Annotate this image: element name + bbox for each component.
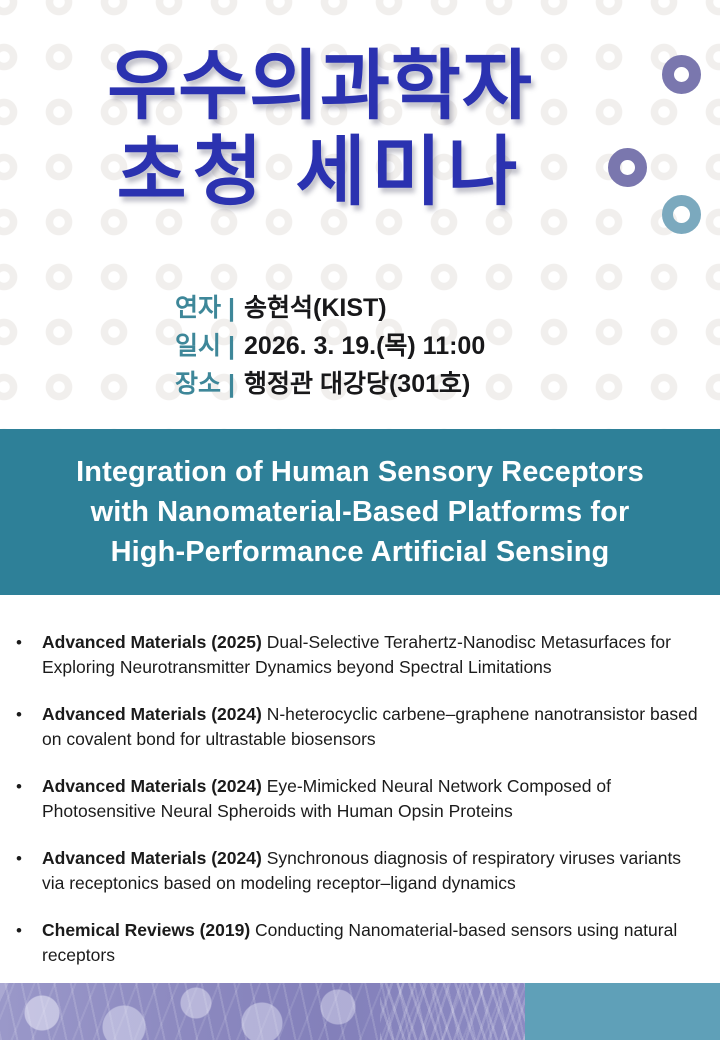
info-value-location: 행정관 대강당(301호) — [244, 364, 470, 400]
lecture-title-text: Integration of Human Sensory Receptors w… — [62, 452, 658, 572]
publication-journal: Advanced Materials (2024) — [42, 848, 262, 868]
bullet-icon: • — [16, 918, 22, 943]
info-row-speaker: 연자 | 송현석(KIST) — [175, 288, 485, 326]
seminar-poster: 우수의과학자 초청 세미나 연자 | 송현석(KIST) 일시 | 2026. … — [0, 0, 720, 1040]
info-value-datetime: 2026. 3. 19.(목) 11:00 — [244, 326, 485, 362]
info-separator-datetime: | — [221, 332, 244, 361]
lecture-title-line-3: High-Performance Artificial Sensing — [76, 532, 644, 572]
list-item: • Advanced Materials (2024) N-heterocycl… — [0, 702, 720, 752]
publication-journal: Advanced Materials (2024) — [42, 704, 262, 724]
list-item: • Advanced Materials (2024) Eye-Mimicked… — [0, 774, 720, 824]
seminar-info-block: 연자 | 송현석(KIST) 일시 | 2026. 3. 19.(목) 11:0… — [175, 288, 485, 402]
main-title-line-1: 우수의과학자 — [0, 44, 640, 130]
list-item: • Chemical Reviews (2019) Conducting Nan… — [0, 918, 720, 968]
footer-teal-block — [525, 983, 720, 1040]
lecture-title-line-1: Integration of Human Sensory Receptors — [76, 452, 644, 492]
publication-journal: Chemical Reviews (2019) — [42, 920, 250, 940]
lecture-title-line-2: with Nanomaterial-Based Platforms for — [76, 492, 644, 532]
info-separator-location: | — [221, 370, 244, 399]
publication-journal: Advanced Materials (2024) — [42, 776, 262, 796]
info-label-speaker: 연자 — [175, 288, 221, 324]
info-label-location: 장소 — [175, 364, 221, 400]
footer-decoration-strip — [0, 983, 720, 1040]
publication-journal: Advanced Materials (2025) — [42, 632, 262, 652]
poster-main-title: 우수의과학자 초청 세미나 — [0, 44, 640, 216]
bullet-icon: • — [16, 846, 22, 871]
bullet-icon: • — [16, 630, 22, 655]
publication-list: • Advanced Materials (2025) Dual-Selecti… — [0, 630, 720, 990]
poster-header: 우수의과학자 초청 세미나 연자 | 송현석(KIST) 일시 | 2026. … — [0, 0, 720, 429]
main-title-line-2: 초청 세미나 — [0, 130, 640, 216]
info-row-datetime: 일시 | 2026. 3. 19.(목) 11:00 — [175, 326, 485, 364]
list-item: • Advanced Materials (2024) Synchronous … — [0, 846, 720, 896]
purple-ring-top-icon — [662, 55, 701, 94]
teal-ring-bottom-icon — [662, 195, 701, 234]
bullet-icon: • — [16, 774, 22, 799]
info-row-location: 장소 | 행정관 대강당(301호) — [175, 364, 485, 402]
info-separator-speaker: | — [221, 294, 244, 323]
list-item: • Advanced Materials (2025) Dual-Selecti… — [0, 630, 720, 680]
info-value-speaker: 송현석(KIST) — [244, 288, 387, 324]
lecture-title-banner: Integration of Human Sensory Receptors w… — [0, 429, 720, 595]
info-label-datetime: 일시 — [175, 326, 221, 362]
dna-helix-graphic — [380, 983, 525, 1040]
bullet-icon: • — [16, 702, 22, 727]
molecular-model-photo — [0, 983, 525, 1040]
